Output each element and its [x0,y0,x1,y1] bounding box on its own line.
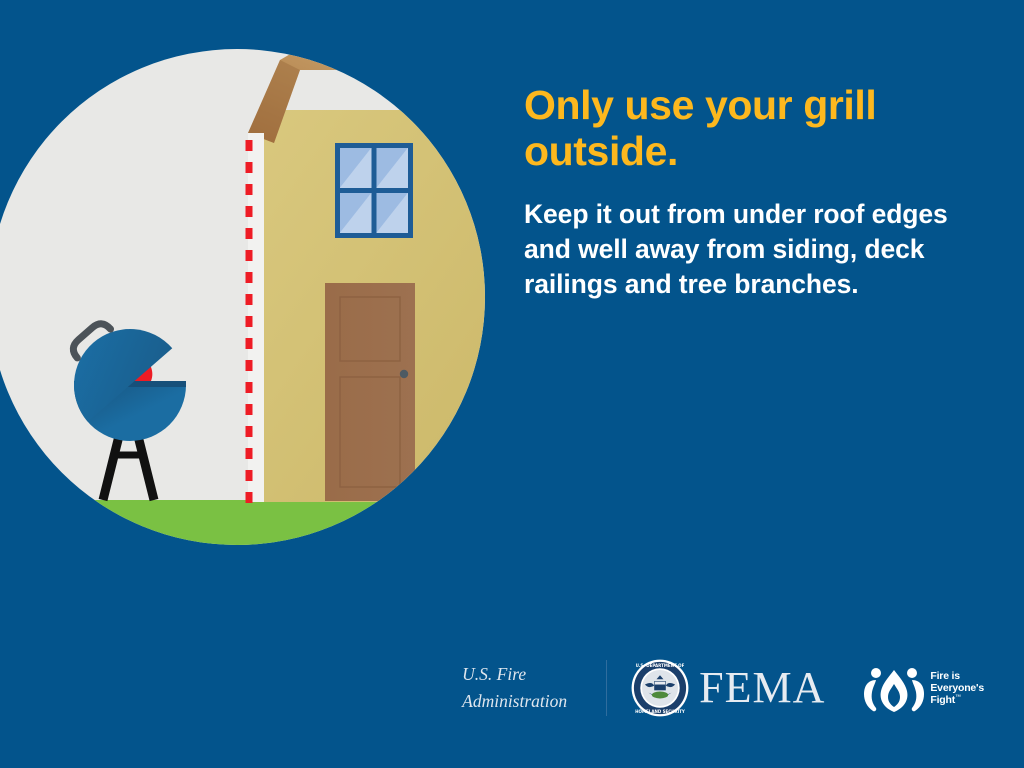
usfa-wordmark: U.S. Fire Administration [462,661,582,715]
footer-divider [606,660,607,716]
house-window [335,143,413,238]
svg-text:U.S. DEPARTMENT OF: U.S. DEPARTMENT OF [636,663,685,668]
fief-wordmark: Fire is Everyone's Fight™ [930,670,984,707]
doorknob-icon [400,370,408,378]
grill-safety-illustration [0,0,520,600]
fief-line-2: Everyone's [930,682,984,694]
svg-text:HOMELAND SECURITY: HOMELAND SECURITY [635,709,685,714]
people-flame-icon [863,664,925,712]
usfa-line-1: U.S. Fire [462,661,582,688]
usfa-line-2: Administration [462,688,582,715]
fief-line-3: Fight [930,694,955,706]
fire-is-everyones-fight-logo: Fire is Everyone's Fight™ [863,664,984,712]
footer-logo-bar: U.S. Fire Administration U.S. DEPARTMENT… [0,648,1024,728]
headline: Only use your grill outside. [524,82,986,175]
house-door [325,283,415,501]
fief-line-3-wrap: Fight™ [930,694,984,706]
fema-wordmark: FEMA [699,666,825,710]
fief-trademark: ™ [955,695,961,701]
message-block: Only use your grill outside. Keep it out… [524,82,986,302]
fief-line-1: Fire is [930,670,984,682]
subcopy: Keep it out from under roof edges and we… [524,197,986,303]
grass [0,500,520,600]
dhs-seal-icon: U.S. DEPARTMENT OF HOMELAND SECURITY [631,659,689,717]
